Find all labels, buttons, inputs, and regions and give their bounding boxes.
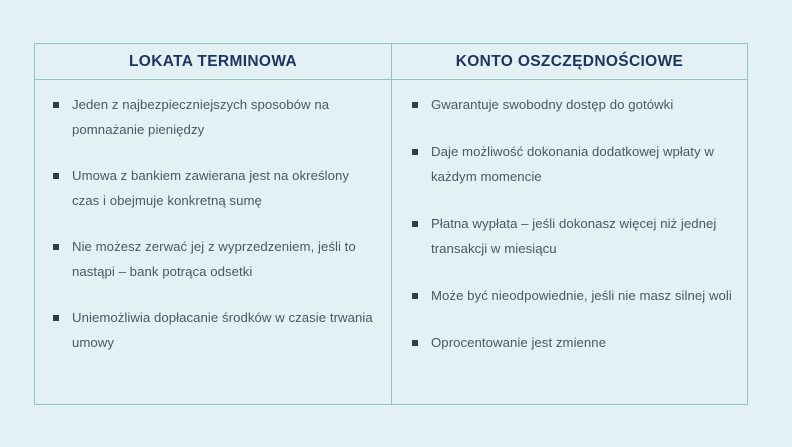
list-item: Oprocentowanie jest zmienne	[410, 330, 735, 355]
square-bullet-icon	[412, 102, 418, 108]
column-body-lokata-terminowa: Jeden z najbezpieczniejszych sposobów na…	[35, 80, 392, 404]
column-header-label: KONTO OSZCZĘDNOŚCIOWE	[456, 53, 684, 71]
square-bullet-icon	[412, 221, 418, 227]
bullet-list-konto-oszczednosciowe: Gwarantuje swobodny dostęp do gotówki Da…	[410, 92, 735, 355]
list-item: Może być nieodpowiednie, jeśli nie masz …	[410, 283, 735, 308]
column-header-label: LOKATA TERMINOWA	[129, 53, 297, 71]
column-body-konto-oszczednosciowe: Gwarantuje swobodny dostęp do gotówki Da…	[392, 80, 747, 404]
square-bullet-icon	[53, 173, 59, 179]
list-item-text: Płatna wypłata – jeśli dokonasz więcej n…	[431, 216, 716, 256]
list-item: Nie możesz zerwać jej z wyprzedzeniem, j…	[51, 234, 375, 284]
bullet-list-lokata-terminowa: Jeden z najbezpieczniejszych sposobów na…	[51, 92, 375, 355]
list-item: Gwarantuje swobodny dostęp do gotówki	[410, 92, 735, 117]
square-bullet-icon	[412, 293, 418, 299]
list-item: Daje możliwość dokonania dodatkowej wpła…	[410, 139, 735, 189]
list-item: Jeden z najbezpieczniejszych sposobów na…	[51, 92, 375, 142]
list-item-text: Oprocentowanie jest zmienne	[431, 335, 606, 350]
column-header-konto-oszczednosciowe: KONTO OSZCZĘDNOŚCIOWE	[392, 44, 747, 79]
table-header-row: LOKATA TERMINOWA KONTO OSZCZĘDNOŚCIOWE	[35, 44, 747, 80]
table-body-row: Jeden z najbezpieczniejszych sposobów na…	[35, 80, 747, 404]
square-bullet-icon	[412, 149, 418, 155]
square-bullet-icon	[412, 340, 418, 346]
list-item-text: Umowa z bankiem zawierana jest na określ…	[72, 168, 349, 208]
list-item-text: Gwarantuje swobodny dostęp do gotówki	[431, 97, 673, 112]
comparison-table: LOKATA TERMINOWA KONTO OSZCZĘDNOŚCIOWE J…	[34, 43, 748, 405]
list-item: Umowa z bankiem zawierana jest na określ…	[51, 163, 375, 213]
list-item-text: Jeden z najbezpieczniejszych sposobów na…	[72, 97, 329, 137]
square-bullet-icon	[53, 244, 59, 250]
square-bullet-icon	[53, 102, 59, 108]
list-item-text: Uniemożliwia dopłacanie środków w czasie…	[72, 310, 373, 350]
list-item-text: Nie możesz zerwać jej z wyprzedzeniem, j…	[72, 239, 356, 279]
list-item: Uniemożliwia dopłacanie środków w czasie…	[51, 305, 375, 355]
list-item-text: Może być nieodpowiednie, jeśli nie masz …	[431, 288, 732, 303]
square-bullet-icon	[53, 315, 59, 321]
list-item-text: Daje możliwość dokonania dodatkowej wpła…	[431, 144, 714, 184]
list-item: Płatna wypłata – jeśli dokonasz więcej n…	[410, 211, 735, 261]
column-header-lokata-terminowa: LOKATA TERMINOWA	[35, 44, 392, 79]
